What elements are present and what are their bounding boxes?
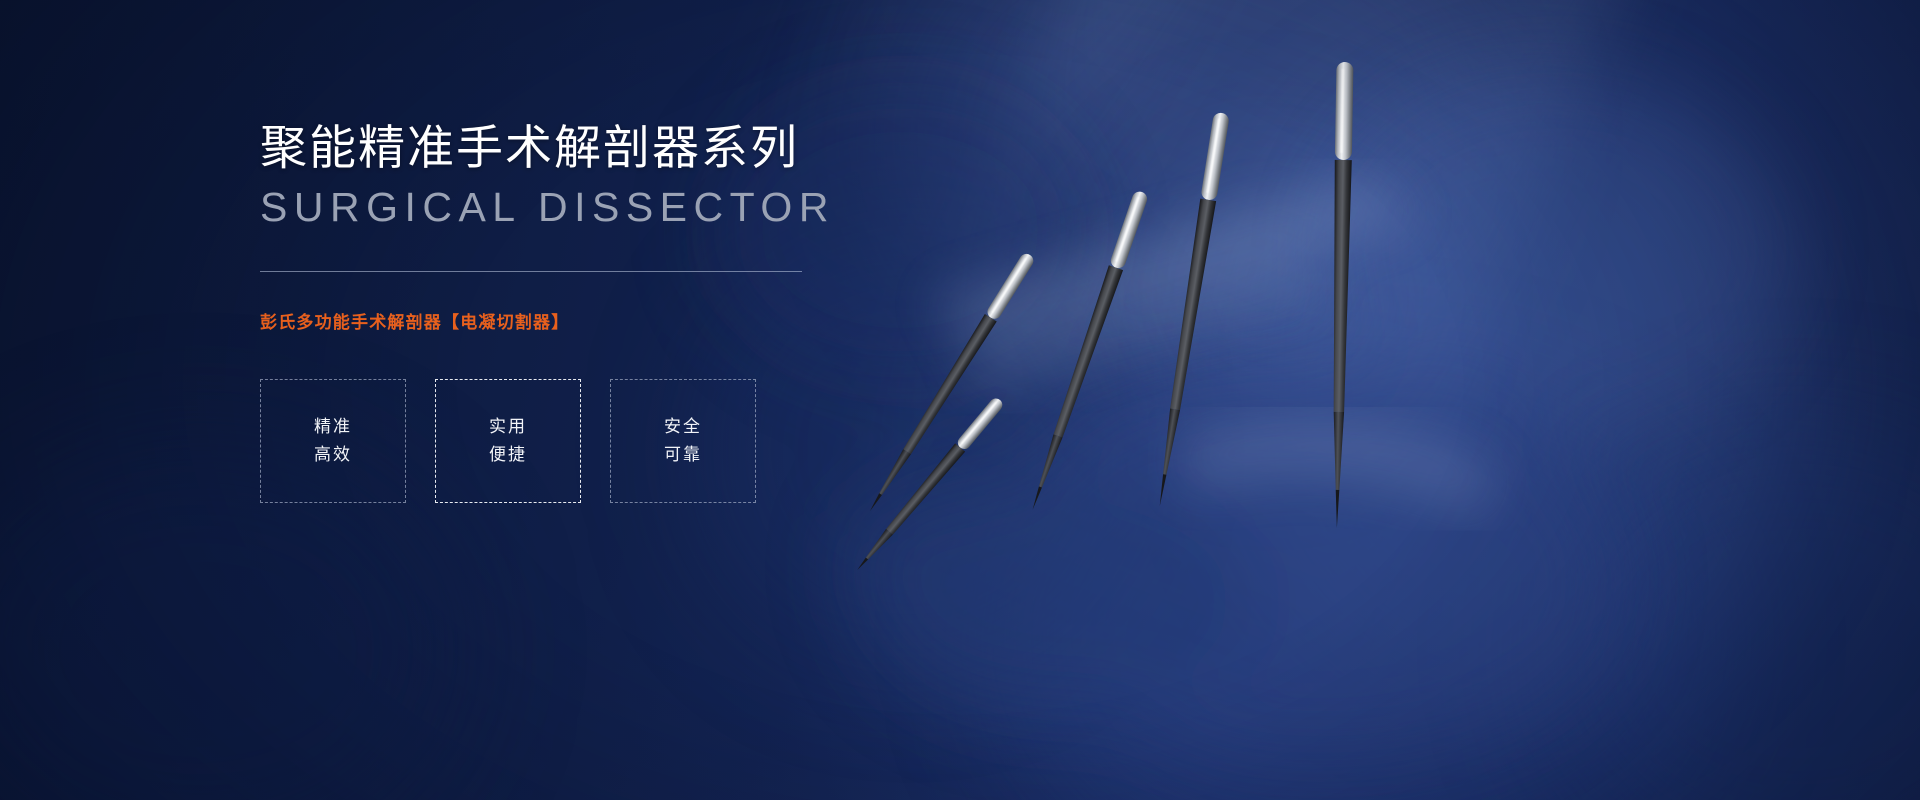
feature-line-2: 可靠: [664, 446, 702, 463]
background-blob: [1120, 140, 1420, 440]
background-blob: [1240, 60, 1800, 700]
feature-line-1: 实用: [489, 418, 527, 435]
background-blob: [1540, 420, 1920, 800]
feature-box-row: 精准 高效 实用 便捷 安全 可靠: [260, 379, 1020, 503]
feature-line-1: 精准: [314, 418, 352, 435]
feature-box-precision[interactable]: 精准 高效: [260, 379, 406, 503]
feature-line-2: 便捷: [489, 446, 527, 463]
feature-line-1: 安全: [664, 418, 702, 435]
product-hero-banner: 聚能精准手术解剖器系列 SURGICAL DISSECTOR 彭氏多功能手术解剖…: [0, 0, 1920, 800]
surgical-dissector-2: [1152, 112, 1230, 508]
title-divider: [260, 271, 802, 272]
banner-content: 聚能精准手术解剖器系列 SURGICAL DISSECTOR 彭氏多功能手术解剖…: [260, 120, 1020, 503]
surgical-dissector-1: [1328, 62, 1353, 528]
feature-line-2: 高效: [314, 446, 352, 463]
feature-box-safety[interactable]: 安全 可靠: [610, 379, 756, 503]
product-name-label: 彭氏多功能手术解剖器【电凝切割器】: [260, 308, 1020, 333]
page-subtitle-english: SURGICAL DISSECTOR: [260, 183, 1020, 232]
feature-box-practical[interactable]: 实用 便捷: [435, 379, 581, 503]
background-blob: [1000, 380, 1720, 800]
page-title: 聚能精准手术解剖器系列: [260, 120, 1020, 175]
surgical-dissector-3: [1026, 190, 1150, 513]
